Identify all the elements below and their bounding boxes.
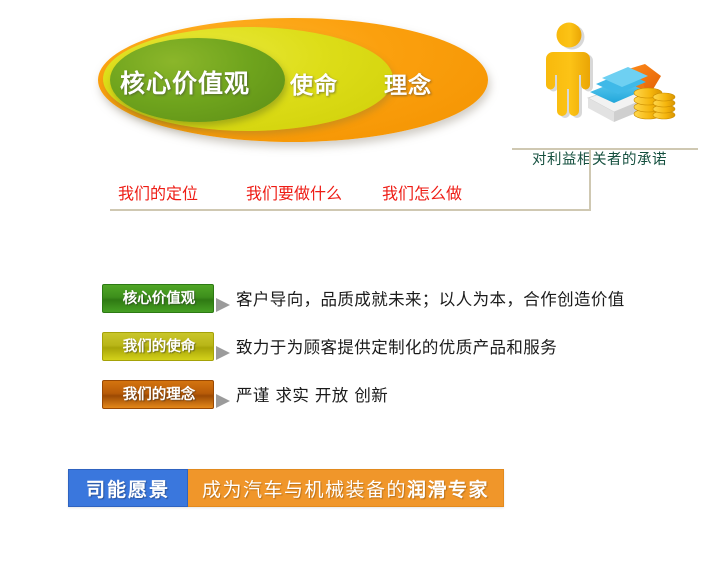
arrow-icon (216, 346, 230, 360)
caption-underline (512, 148, 698, 150)
venn-diagram: 核心价值观 使命 理念 (98, 18, 498, 148)
statement-row-core-values: 核心价值观 客户导向，品质成就未来；以人为本，合作创造价值 (100, 284, 710, 332)
slide-canvas: 核心价值观 使命 理念 (0, 0, 718, 563)
question-how-to-do: 我们怎么做 (382, 180, 462, 204)
vision-banner-left: 司能愿景 (68, 469, 188, 507)
vision-banner: 司能愿景 成为汽车与机械装备的润滑专家 (68, 469, 504, 507)
statement-text-mission: 致力于为顾客提供定制化的优质产品和服务 (236, 334, 557, 358)
stakeholder-block: 对利益相关者的承诺 (510, 20, 695, 160)
vision-banner-text-emphasis: 润滑专家 (407, 479, 489, 501)
ellipse-label-mission: 使命 (290, 66, 338, 100)
tag-mission: 我们的使命 (102, 332, 214, 361)
vision-banner-right: 成为汽车与机械装备的润滑专家 (188, 469, 504, 507)
tag-philosophy: 我们的理念 (102, 380, 214, 409)
tag-philosophy-label: 我们的理念 (103, 381, 215, 410)
question-what-to-do: 我们要做什么 (246, 180, 342, 204)
question-positioning: 我们的定位 (118, 180, 198, 204)
statement-row-philosophy: 我们的理念 严谨 求实 开放 创新 (100, 380, 710, 428)
arrow-icon (216, 394, 230, 408)
arrow-icon (216, 298, 230, 312)
statement-text-core-values: 客户导向，品质成就未来；以人为本，合作创造价值 (236, 286, 625, 310)
vision-banner-title: 司能愿景 (86, 475, 170, 502)
statement-row-mission: 我们的使命 致力于为顾客提供定制化的优质产品和服务 (100, 332, 710, 380)
ellipse-label-philosophy: 理念 (384, 66, 432, 100)
tag-core-values-label: 核心价值观 (103, 285, 215, 314)
tag-core-values: 核心价值观 (102, 284, 214, 313)
person-with-money-icon (528, 22, 678, 130)
connector-base-line (110, 209, 591, 211)
ellipse-label-core-values: 核心价值观 (120, 64, 250, 100)
tag-mission-label: 我们的使命 (103, 333, 215, 362)
stakeholder-caption: 对利益相关者的承诺 (532, 148, 667, 169)
vision-banner-text: 成为汽车与机械装备的润滑专家 (202, 475, 489, 502)
statement-text-philosophy: 严谨 求实 开放 创新 (236, 382, 388, 406)
statement-list: 核心价值观 客户导向，品质成就未来；以人为本，合作创造价值 我们的使命 致力于为… (100, 284, 710, 428)
question-row: 我们的定位 我们要做什么 我们怎么做 (110, 180, 590, 204)
vision-banner-text-prefix: 成为汽车与机械装备的 (202, 479, 407, 501)
